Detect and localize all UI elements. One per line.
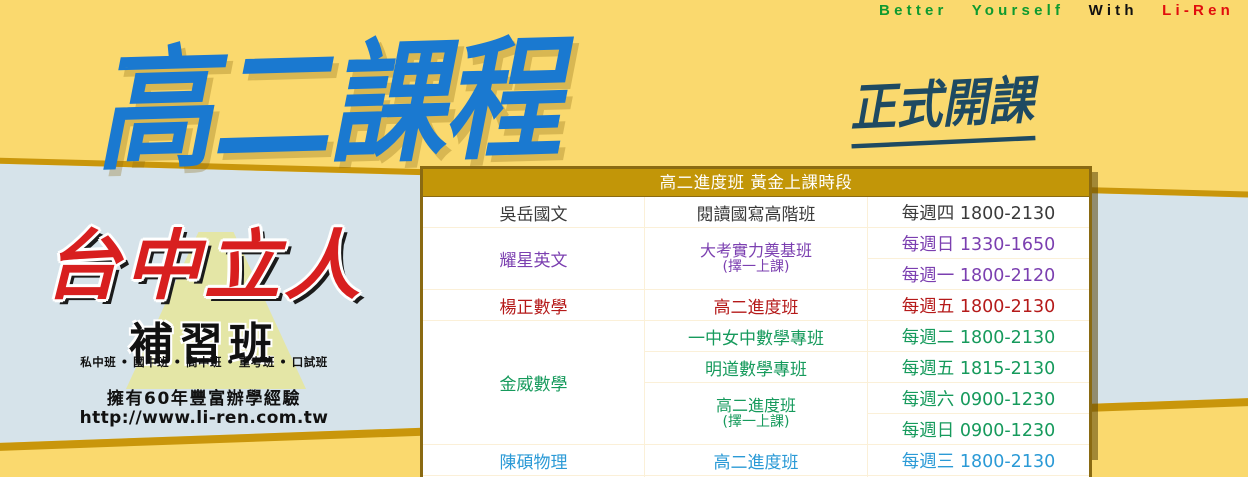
course-name: 大考實力奠基班	[700, 241, 812, 260]
course-note: (擇一上課)	[645, 260, 867, 276]
slogan-word-yourself: Yourself	[972, 2, 1065, 19]
cell-course: 大考實力奠基班(擇一上課)	[645, 228, 868, 290]
cell-teacher: 金威數學	[422, 321, 645, 445]
cell-teacher: 楊正數學	[422, 290, 645, 321]
slogan-text: Better Yourself With Li-Ren	[879, 2, 1234, 19]
cell-time: 每週日 0900-1230	[868, 414, 1091, 445]
brand-tagline: 擁有60年豐富辦學經驗	[18, 384, 390, 409]
brand-class-list: 私中班 • 國中班 • 高中班 • 重考班 • 口試班	[18, 354, 390, 370]
slogan-word-with: With	[1089, 2, 1138, 19]
cell-teacher: 吳岳國文	[422, 197, 645, 228]
course-name: 高二進度班	[716, 396, 796, 415]
cell-time: 每週五 1815-2130	[868, 352, 1091, 383]
schedule-table: 高二進度班 黃金上課時段 吳岳國文閱讀國寫高階班每週四 1800-2130耀星英…	[420, 166, 1092, 477]
table-row: 楊正數學高二進度班每週五 1800-2130	[422, 290, 1091, 321]
cell-course: 一中女中數學專班	[645, 321, 868, 352]
brand-name: 台中立人	[18, 204, 390, 314]
cell-time: 每週五 1800-2130	[868, 290, 1091, 321]
cell-course: 閱讀國寫高階班	[645, 197, 868, 228]
cell-teacher: 陳碩物理	[422, 445, 645, 476]
table-row: 吳岳國文閱讀國寫高階班每週四 1800-2130	[422, 197, 1091, 228]
poster-canvas: Better Yourself With Li-Ren 高二課程 正式開課 台中…	[0, 0, 1248, 477]
cell-time: 每週六 0900-1230	[868, 383, 1091, 414]
cell-course: 高二進度班	[645, 290, 868, 321]
cell-teacher: 耀星英文	[422, 228, 645, 290]
brand-website-url[interactable]: http://www.li-ren.com.tw	[18, 408, 390, 428]
cell-course: 高二進度班	[645, 445, 868, 476]
table-row: 陳碩物理高二進度班每週三 1800-2130	[422, 445, 1091, 476]
cell-time: 每週一 1800-2120	[868, 259, 1091, 290]
slogan-word-better: Better	[879, 2, 948, 19]
slogan-word-liren: Li-Ren	[1162, 2, 1234, 19]
brand-logo: 台中立人 補習班 私中班 • 國中班 • 高中班 • 重考班 • 口試班 擁有6…	[18, 188, 390, 418]
table-row: 耀星英文大考實力奠基班(擇一上課)每週日 1330-1650	[422, 228, 1091, 259]
cell-time: 每週二 1800-2130	[868, 321, 1091, 352]
cell-time: 每週三 1800-2130	[868, 445, 1091, 476]
schedule-table-body: 吳岳國文閱讀國寫高階班每週四 1800-2130耀星英文大考實力奠基班(擇一上課…	[422, 197, 1091, 477]
course-note: (擇一上課)	[645, 415, 867, 431]
page-title: 高二課程	[92, 0, 561, 195]
page-subtitle: 正式開課	[848, 60, 1035, 149]
cell-course: 高二進度班(擇一上課)	[645, 383, 868, 445]
cell-time: 每週四 1800-2130	[868, 197, 1091, 228]
table-row: 金威數學一中女中數學專班每週二 1800-2130	[422, 321, 1091, 352]
cell-time: 每週日 1330-1650	[868, 228, 1091, 259]
cell-course: 明道數學專班	[645, 352, 868, 383]
